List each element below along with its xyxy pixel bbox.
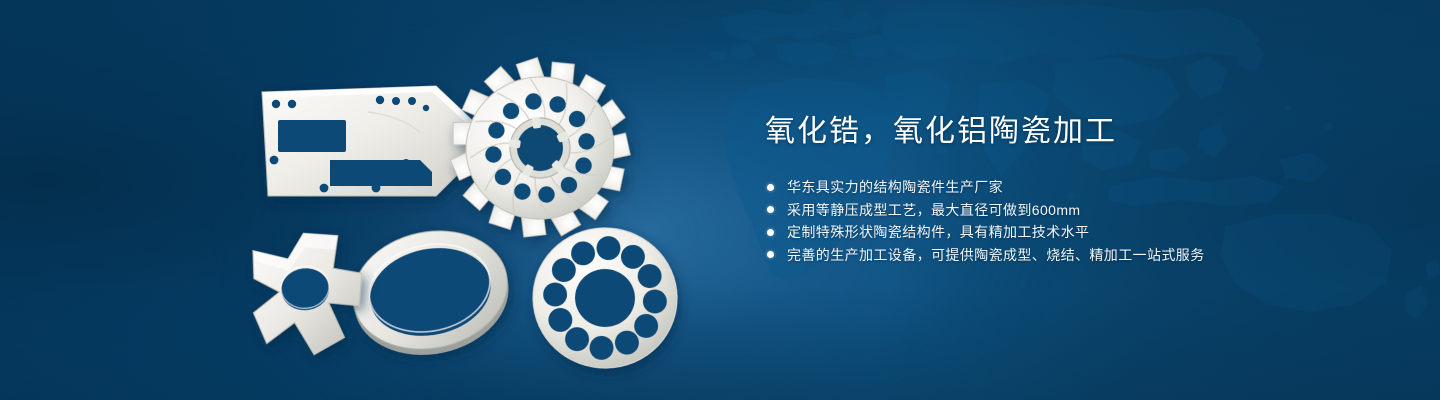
banner-copy: 氧化锆，氧化铝陶瓷加工 华东具实力的结构陶瓷件生产厂家 采用等静压成型工艺，最大… bbox=[765, 112, 1385, 266]
list-item: 定制特殊形状陶瓷结构件，具有精加工技术水平 bbox=[767, 221, 1385, 243]
list-item: 华东具实力的结构陶瓷件生产厂家 bbox=[767, 176, 1385, 198]
ceramic-cross-part bbox=[246, 228, 370, 361]
list-item: 采用等静压成型工艺，最大直径可做到600mm bbox=[767, 199, 1385, 221]
bullet-icon bbox=[767, 206, 774, 213]
ceramic-perforated-disc-part bbox=[528, 223, 681, 373]
feature-text: 完善的生产加工设备，可提供陶瓷成型、烧结、精加工一站式服务 bbox=[787, 245, 1205, 265]
bullet-icon bbox=[767, 229, 774, 236]
ceramic-products-image bbox=[0, 0, 760, 400]
feature-text: 华东具实力的结构陶瓷件生产厂家 bbox=[787, 177, 1003, 197]
feature-text: 定制特殊形状陶瓷结构件，具有精加工技术水平 bbox=[787, 222, 1089, 242]
page-title: 氧化锆，氧化铝陶瓷加工 bbox=[765, 112, 1385, 152]
ceramic-impeller-part bbox=[437, 46, 642, 251]
hero-banner: 氧化锆，氧化铝陶瓷加工 华东具实力的结构陶瓷件生产厂家 采用等静压成型工艺，最大… bbox=[0, 0, 1440, 400]
feature-list: 华东具实力的结构陶瓷件生产厂家 采用等静压成型工艺，最大直径可做到600mm 定… bbox=[767, 176, 1385, 266]
bullet-icon bbox=[767, 251, 774, 258]
list-item: 完善的生产加工设备，可提供陶瓷成型、烧结、精加工一站式服务 bbox=[767, 244, 1385, 266]
feature-text: 采用等静压成型工艺，最大直径可做到600mm bbox=[787, 200, 1080, 220]
ceramic-plate-part bbox=[262, 86, 474, 196]
bullet-icon bbox=[767, 184, 774, 191]
ceramic-ring-part bbox=[342, 217, 520, 369]
